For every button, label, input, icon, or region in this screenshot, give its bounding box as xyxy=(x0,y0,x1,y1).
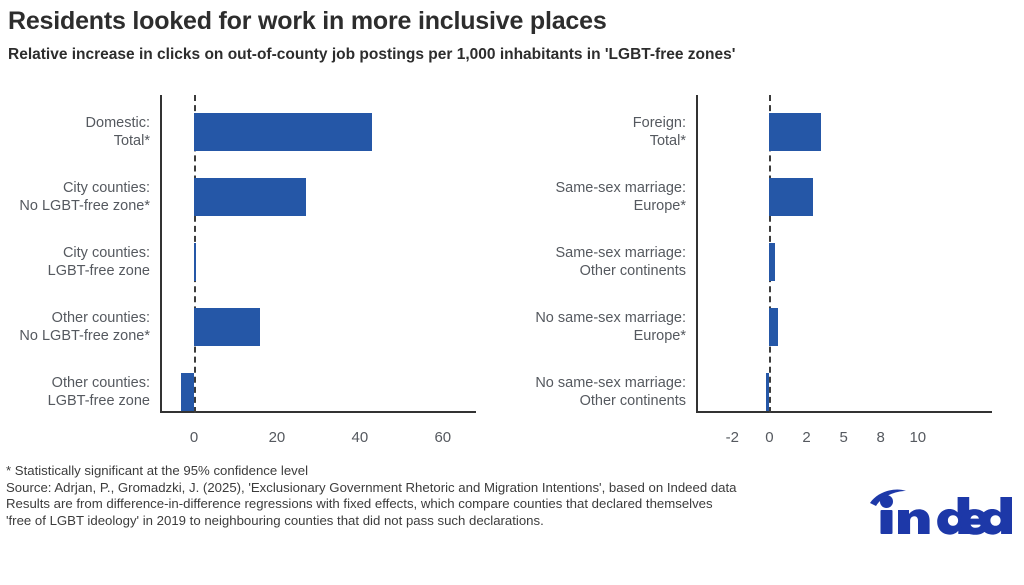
chart-subtitle: Relative increase in clicks on out-of-co… xyxy=(8,45,1018,65)
chart-panels: Domestic: Total* City counties: No LGBT-… xyxy=(0,95,1024,460)
x-axis-tick-label: -2 xyxy=(726,429,739,446)
category-label-column-right: Foreign: Total* Same-sex marriage: Europ… xyxy=(512,95,696,460)
bar-foreign-total xyxy=(769,113,821,151)
category-label: City counties: LGBT-free zone xyxy=(48,244,150,280)
category-label-line2: No LGBT-free zone* xyxy=(19,327,150,345)
category-label-line2: Total* xyxy=(633,132,686,150)
category-label: Domestic: Total* xyxy=(86,114,150,150)
plot-area-foreign: -2 0 2 5 8 10 xyxy=(696,95,992,460)
category-label-line1: Domestic: xyxy=(86,114,150,132)
x-axis-tick-label: 8 xyxy=(877,429,885,446)
bar-city-counties-lgbt-free-zone xyxy=(194,243,196,281)
category-label-line2: Europe* xyxy=(535,327,686,345)
category-label-line1: Other counties: xyxy=(19,309,150,327)
page-title: Residents looked for work in more inclus… xyxy=(8,6,1018,36)
x-axis-tick-label: 5 xyxy=(839,429,847,446)
bar-no-same-sex-marriage-europe xyxy=(769,308,777,346)
category-label-line1: No same-sex marriage: xyxy=(535,374,686,392)
y-axis-spine xyxy=(160,95,162,413)
footnote-source: Source: Adrjan, P., Gromadzki, J. (2025)… xyxy=(6,480,806,497)
chart-panel-domestic: Domestic: Total* City counties: No LGBT-… xyxy=(0,95,500,460)
category-label: Same-sex marriage: Other continents xyxy=(555,244,686,280)
bar-other-counties-no-lgbt-free-zone xyxy=(194,308,260,346)
bar-domestic-total xyxy=(194,113,372,151)
chart-header: Residents looked for work in more inclus… xyxy=(8,6,1018,65)
category-label-line1: Foreign: xyxy=(633,114,686,132)
bar-other-counties-lgbt-free-zone xyxy=(181,373,194,411)
bar-city-counties-no-lgbt-free-zone xyxy=(194,178,306,216)
x-axis-tick-label: 60 xyxy=(434,429,451,446)
category-label: Other counties: LGBT-free zone xyxy=(48,374,150,410)
category-label-line1: No same-sex marriage: xyxy=(535,309,686,327)
category-label: No same-sex marriage: Europe* xyxy=(535,309,686,345)
x-axis-tick-label: 0 xyxy=(190,429,198,446)
category-label-line2: Other continents xyxy=(535,392,686,410)
category-label-line2: No LGBT-free zone* xyxy=(19,197,150,215)
category-label: No same-sex marriage: Other continents xyxy=(535,374,686,410)
category-label-line2: Total* xyxy=(86,132,150,150)
category-label-line2: Europe* xyxy=(555,197,686,215)
category-label-line1: City counties: xyxy=(48,244,150,262)
category-label: Other counties: No LGBT-free zone* xyxy=(19,309,150,345)
x-axis-tick-label: 10 xyxy=(909,429,926,446)
indeed-logo xyxy=(862,487,1012,535)
category-label-column-left: Domestic: Total* City counties: No LGBT-… xyxy=(0,95,160,460)
x-axis-spine xyxy=(696,411,992,413)
footnote-significance: * Statistically significant at the 95% c… xyxy=(6,463,806,480)
x-axis-spine xyxy=(160,411,476,413)
x-axis-tick-label: 0 xyxy=(765,429,773,446)
category-label: Same-sex marriage: Europe* xyxy=(555,179,686,215)
category-label-line2: LGBT-free zone xyxy=(48,262,150,280)
x-axis-tick-label: 40 xyxy=(352,429,369,446)
bar-no-same-sex-marriage-other-continents xyxy=(766,373,770,411)
x-axis-tick-label: 20 xyxy=(269,429,286,446)
category-label-line2: LGBT-free zone xyxy=(48,392,150,410)
category-label-line2: Other continents xyxy=(555,262,686,280)
footnote-method-2: 'free of LGBT ideology' in 2019 to neigh… xyxy=(6,513,806,530)
category-label-line1: Same-sex marriage: xyxy=(555,179,686,197)
x-axis-tick-label: 2 xyxy=(802,429,810,446)
chart-footer: * Statistically significant at the 95% c… xyxy=(6,463,806,529)
plot-area-domestic: 0 20 40 60 xyxy=(160,95,476,460)
category-label-line1: Same-sex marriage: xyxy=(555,244,686,262)
bar-same-sex-marriage-other-continents xyxy=(769,243,774,281)
footnote-method-1: Results are from difference-in-differenc… xyxy=(6,496,806,513)
category-label-line1: Other counties: xyxy=(48,374,150,392)
category-label: Foreign: Total* xyxy=(633,114,686,150)
bar-same-sex-marriage-europe xyxy=(769,178,813,216)
category-label-line1: City counties: xyxy=(19,179,150,197)
category-label: City counties: No LGBT-free zone* xyxy=(19,179,150,215)
y-axis-spine xyxy=(696,95,698,413)
chart-panel-foreign: Foreign: Total* Same-sex marriage: Europ… xyxy=(512,95,1024,460)
